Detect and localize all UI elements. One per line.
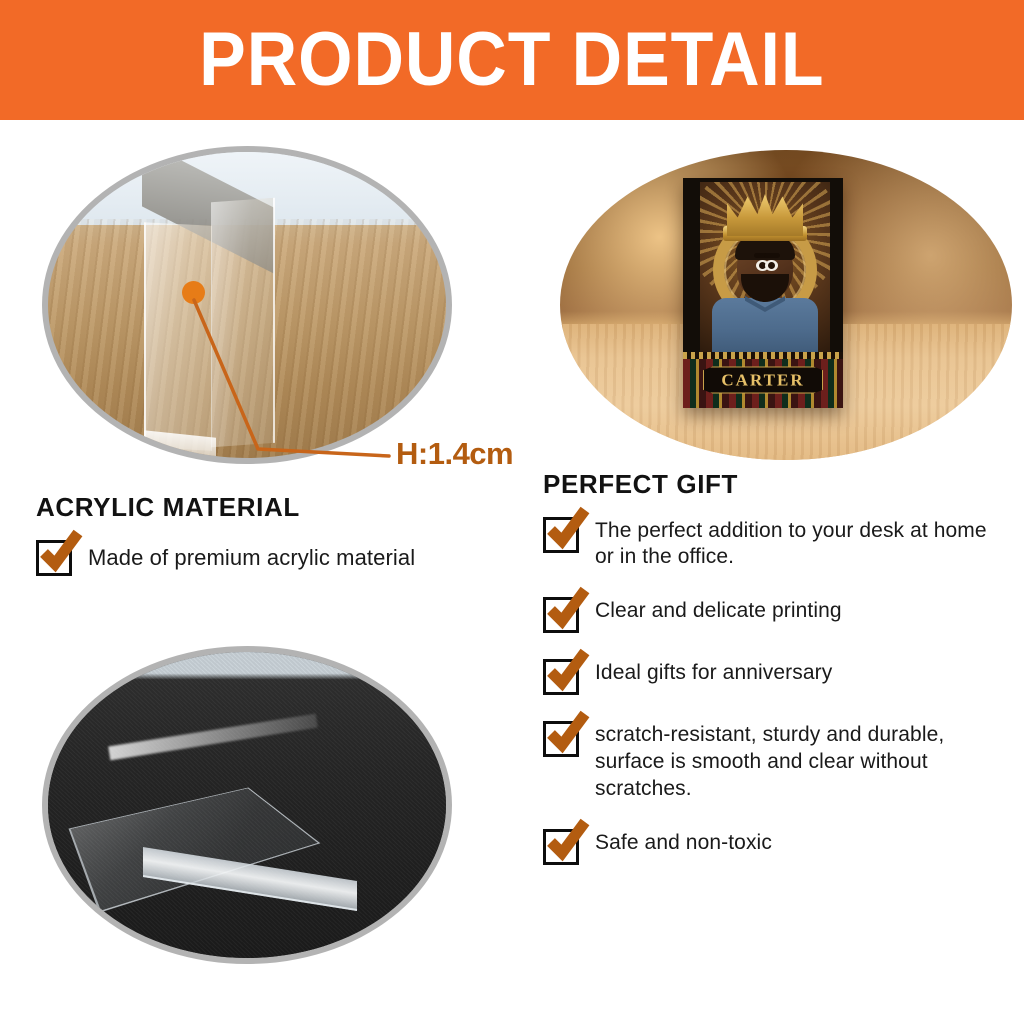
feature-text: Ideal gifts for anniversary [595, 657, 832, 687]
checkmark-icon [544, 646, 592, 694]
feature-text: Safe and non-toxic [595, 827, 772, 857]
plaque-art-window [700, 182, 830, 352]
checkmark-icon [544, 584, 592, 632]
feature-list-perfect-gift: The perfect addition to your desk at hom… [543, 515, 1008, 865]
feature-text: Made of premium acrylic material [88, 538, 415, 572]
feature-text: scratch-resistant, sturdy and durable, s… [595, 719, 1008, 803]
plaque-kente-pattern-band: CARTER [683, 352, 843, 408]
checkbox-checked-icon [543, 829, 579, 865]
section-heading-perfect-gift: PERFECT GIFT [543, 470, 1008, 499]
page-title: PRODUCT DETAIL [199, 22, 824, 98]
feature-text: The perfect addition to your desk at hom… [595, 515, 1008, 572]
section-perfect-gift: PERFECT GIFT The perfect addition to you… [543, 470, 1008, 889]
section-acrylic-material: ACRYLIC MATERIAL Made of premium acrylic… [36, 493, 536, 576]
header-banner: PRODUCT DETAIL [0, 0, 1024, 120]
checkmark-icon [544, 816, 592, 864]
character-brow-right [764, 253, 780, 258]
feature-item: Clear and delicate printing [543, 595, 1008, 633]
character-denim-shirt [712, 298, 818, 352]
feature-item: Safe and non-toxic [543, 827, 1008, 865]
character-eye-right [765, 260, 778, 271]
acrylic-slab-right-face [211, 198, 275, 447]
checkbox-checked-icon [543, 597, 579, 633]
checkbox-checked-icon [543, 517, 579, 553]
feature-list-acrylic-material: Made of premium acrylic material [36, 538, 536, 576]
feature-item: Made of premium acrylic material [36, 538, 536, 576]
checkbox-checked-icon [543, 659, 579, 695]
photo-acrylic-block-on-slate [42, 646, 452, 964]
section-heading-acrylic-material: ACRYLIC MATERIAL [36, 493, 536, 522]
feature-text: Clear and delicate printing [595, 595, 842, 625]
acrylic-plaque: CARTER [683, 178, 843, 408]
checkmark-icon [37, 527, 85, 575]
plaque-name-text: CARTER [721, 372, 804, 389]
checkmark-icon [544, 504, 592, 552]
checkmark-icon [544, 708, 592, 756]
feature-item: The perfect addition to your desk at hom… [543, 515, 1008, 572]
dimension-callout-dot [182, 281, 205, 304]
feature-item: Ideal gifts for anniversary [543, 657, 1008, 695]
dimension-label-height: H:1.4cm [396, 436, 513, 472]
plaque-name-ribbon: CARTER [703, 367, 823, 394]
photo-acrylic-edge-on-wood-desk [42, 146, 452, 464]
acrylic-slab-front-face [144, 222, 212, 451]
feature-item: scratch-resistant, sturdy and durable, s… [543, 719, 1008, 803]
checkbox-checked-icon [543, 721, 579, 757]
photo-product-mockup: CARTER [560, 150, 1012, 460]
checkbox-checked-icon [36, 540, 72, 576]
